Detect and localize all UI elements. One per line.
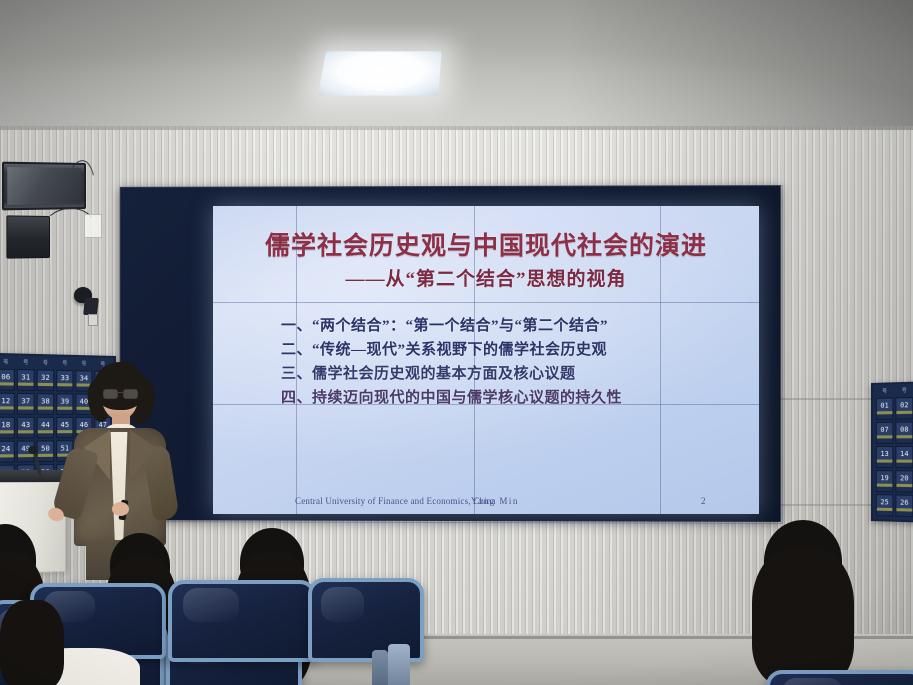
audience-seat[interactable] <box>766 670 913 685</box>
locker-cell[interactable]: 20 <box>895 470 913 493</box>
presentation-slide[interactable]: 儒学社会历史观与中国现代社会的演进 ——从“第二个结合”思想的视角 一、“两个结… <box>213 206 759 514</box>
seat-highlight <box>183 588 239 622</box>
locker-cell[interactable]: 02 <box>895 397 913 420</box>
ceiling-shading <box>0 0 913 138</box>
locker-cell[interactable]: 06 <box>0 369 15 391</box>
presenter-hair <box>94 362 146 410</box>
locker-row: 07 08 <box>875 420 913 445</box>
locker-header-right: 号 号 <box>875 386 913 396</box>
ceiling-light-panel-icon <box>318 51 442 95</box>
seat-armrest <box>388 644 410 685</box>
locker-cell[interactable]: 24 <box>0 441 15 463</box>
locker-header-cell: 号 <box>23 359 28 366</box>
locker-grid-right[interactable]: 号 号 01 02 07 08 13 14 19 20 25 26 <box>871 382 913 523</box>
slide-page-number: 2 <box>701 496 706 506</box>
locker-cell[interactable]: 26 <box>895 494 913 517</box>
locker-cell[interactable]: 38 <box>37 393 54 415</box>
slide-outline-item: 一、“两个结合”：“第一个结合”与“第二个结合” <box>281 314 751 338</box>
lecture-hall-scene: 号 号 号 号 号 号 06 31 32 33 34 35 12 37 38 3… <box>0 0 913 685</box>
glasses-icon <box>103 389 137 397</box>
locker-row: 19 20 <box>875 469 913 494</box>
microphone-icon <box>28 446 38 454</box>
audience-seat[interactable] <box>168 580 316 662</box>
locker-header-cell: 号 <box>902 387 907 394</box>
presenter-hand-right <box>112 502 129 516</box>
camera-body <box>83 298 99 315</box>
wall-top-trim <box>0 126 913 130</box>
slide-footer-author: Yang Min <box>471 496 519 506</box>
locker-cell[interactable]: 01 <box>876 397 894 419</box>
locker-cell[interactable]: 50 <box>37 440 54 462</box>
locker-row: 25 26 <box>875 493 913 518</box>
locker-header-cell: 号 <box>3 358 8 365</box>
seat-highlight <box>782 678 843 685</box>
locker-cell[interactable]: 07 <box>876 422 894 444</box>
audience-hair-foreground <box>0 600 64 685</box>
locker-cell[interactable]: 19 <box>876 470 894 492</box>
glasses-bridge <box>116 392 123 393</box>
slide-outline-item: 四、持续迈向现代的中国与儒学核心议题的持久性 <box>281 386 751 410</box>
ceiling <box>0 0 913 138</box>
locker-cell[interactable]: 18 <box>0 417 15 439</box>
locker-cell[interactable]: 14 <box>895 446 913 468</box>
slide-title: 儒学社会历史观与中国现代社会的演进 <box>213 226 759 262</box>
presenter <box>60 362 178 562</box>
videowall-tile-seam <box>213 302 759 303</box>
locker-row: 01 02 <box>875 396 913 421</box>
locker-cell[interactable]: 43 <box>17 417 35 439</box>
slide-footer-organization: Central University of Finance and Econom… <box>295 496 496 506</box>
slide-outline-list: 一、“两个结合”：“第一个结合”与“第二个结合” 二、“传统—现代”关系视野下的… <box>281 314 751 410</box>
slide-outline-item: 二、“传统—现代”关系视野下的儒学社会历史观 <box>281 338 751 362</box>
audience-hair <box>752 548 854 685</box>
locker-cell[interactable]: 08 <box>895 421 913 443</box>
locker-header-cell: 号 <box>43 359 48 366</box>
locker-cell[interactable]: 25 <box>876 494 894 517</box>
locker-cell[interactable]: 37 <box>17 393 35 415</box>
slide-outline-item: 三、儒学社会历史观的基本方面及核心议题 <box>281 362 751 386</box>
glasses-lens-right <box>123 389 138 399</box>
locker-cell[interactable]: 12 <box>0 393 15 415</box>
locker-cell[interactable]: 13 <box>876 446 894 468</box>
slide-subtitle: ——从“第二个结合”思想的视角 <box>213 264 759 291</box>
seat-armrest <box>372 650 388 685</box>
locker-cell[interactable]: 44 <box>37 417 54 439</box>
seat-highlight <box>321 587 364 622</box>
wall-outlet-plate <box>84 214 102 238</box>
camera-mount-bracket <box>88 314 98 326</box>
podium-top-surface <box>0 470 68 483</box>
locker-row: 13 14 <box>875 445 913 469</box>
locker-cell[interactable]: 32 <box>37 369 54 391</box>
locker-cell[interactable]: 31 <box>17 369 35 391</box>
glasses-lens-left <box>103 389 118 399</box>
locker-header-cell: 号 <box>882 388 887 395</box>
wall-speaker <box>6 215 50 258</box>
